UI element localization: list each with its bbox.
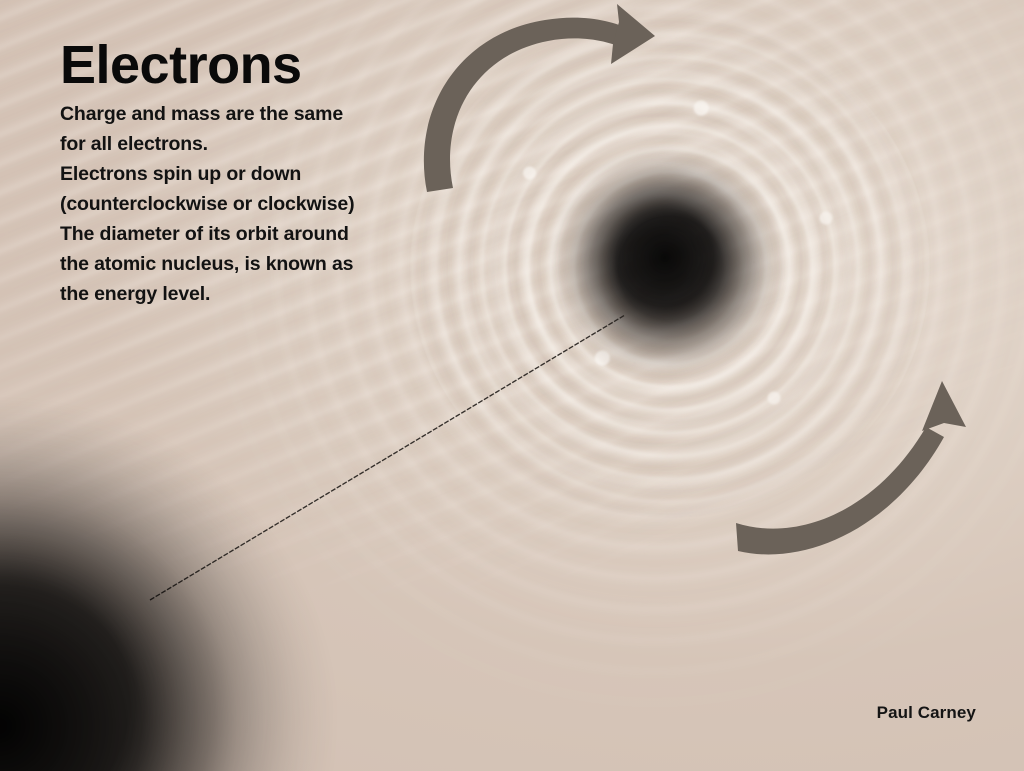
electron-cloud <box>0 330 470 771</box>
body-line: Charge and mass are the same <box>60 99 460 129</box>
body-line: for all electrons. <box>60 129 460 159</box>
body-text: Charge and mass are the same for all ele… <box>60 99 460 309</box>
slide-canvas: Electrons Charge and mass are the same f… <box>0 0 1024 771</box>
body-line: (counterclockwise or clockwise) <box>60 189 460 219</box>
body-line: the atomic nucleus, is known as <box>60 249 460 279</box>
spin-arrow-counterclockwise-icon <box>730 375 980 560</box>
body-line: The diameter of its orbit around <box>60 219 460 249</box>
author-credit: Paul Carney <box>877 703 976 723</box>
body-line: the energy level. <box>60 279 460 309</box>
body-line: Electrons spin up or down <box>60 159 460 189</box>
text-block: Electrons Charge and mass are the same f… <box>60 38 460 309</box>
page-title: Electrons <box>60 38 460 93</box>
